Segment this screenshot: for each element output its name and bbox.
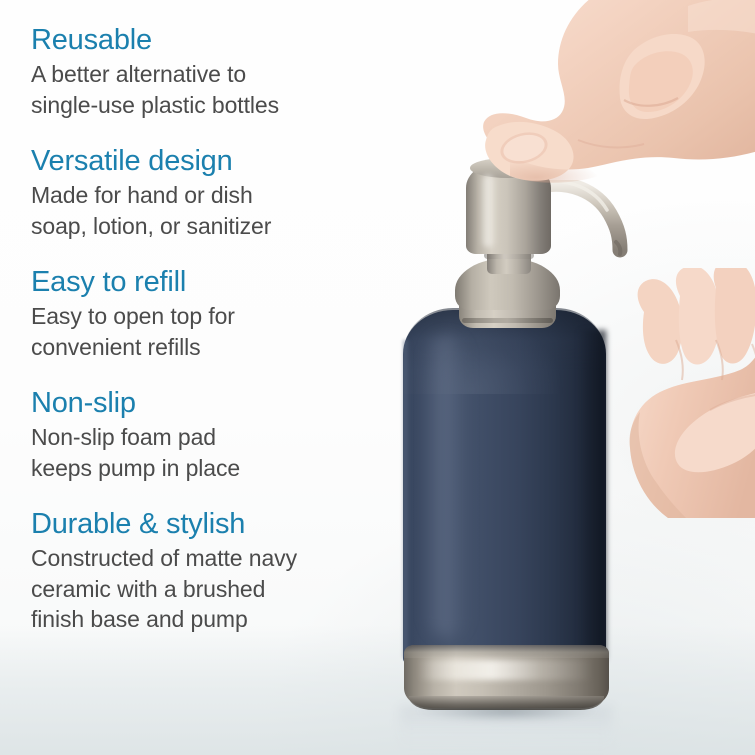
feature-description-line: single-use plastic bottles bbox=[31, 90, 431, 121]
pressing-hand bbox=[438, 0, 755, 202]
feature-description-line: keeps pump in place bbox=[31, 453, 431, 484]
feature-item-easy-to-refill: Easy to refill Easy to open top for conv… bbox=[31, 264, 431, 362]
feature-title: Non-slip bbox=[31, 385, 431, 421]
base-bottom-edge bbox=[409, 696, 604, 710]
feature-item-versatile-design: Versatile design Made for hand or dish s… bbox=[31, 143, 431, 241]
receiving-hand bbox=[612, 268, 755, 518]
feature-description-line: soap, lotion, or sanitizer bbox=[31, 211, 431, 242]
feature-item-non-slip: Non-slip Non-slip foam pad keeps pump in… bbox=[31, 385, 431, 483]
base-top-edge bbox=[404, 645, 609, 658]
feature-item-durable-stylish: Durable & stylish Constructed of matte n… bbox=[31, 506, 431, 635]
feature-description-line: Made for hand or dish bbox=[31, 180, 431, 211]
feature-description-line: convenient refills bbox=[31, 332, 431, 363]
product-feature-infographic: Reusable A better alternative to single-… bbox=[0, 0, 755, 755]
feature-title: Durable & stylish bbox=[31, 506, 431, 542]
feature-title: Reusable bbox=[31, 22, 431, 58]
feature-description-line: Non-slip foam pad bbox=[31, 422, 431, 453]
pump-collar-groove bbox=[462, 318, 553, 323]
feature-description-line: Easy to open top for bbox=[31, 301, 431, 332]
feature-description: A better alternative to single-use plast… bbox=[31, 59, 431, 120]
feature-list: Reusable A better alternative to single-… bbox=[31, 22, 431, 635]
feature-item-reusable: Reusable A better alternative to single-… bbox=[31, 22, 431, 120]
feature-title: Versatile design bbox=[31, 143, 431, 179]
feature-description: Non-slip foam pad keeps pump in place bbox=[31, 422, 431, 483]
bottle-right-shadow bbox=[578, 330, 606, 660]
feature-description-line: finish base and pump bbox=[31, 604, 431, 635]
feature-description-line: A better alternative to bbox=[31, 59, 431, 90]
feature-title: Easy to refill bbox=[31, 264, 431, 300]
feature-description: Made for hand or dish soap, lotion, or s… bbox=[31, 180, 431, 241]
feature-description-line: ceramic with a brushed bbox=[31, 574, 431, 605]
base-sheen bbox=[418, 660, 593, 680]
feature-description: Easy to open top for convenient refills bbox=[31, 301, 431, 362]
feature-description: Constructed of matte navy ceramic with a… bbox=[31, 543, 431, 635]
feature-description-line: Constructed of matte navy bbox=[31, 543, 431, 574]
